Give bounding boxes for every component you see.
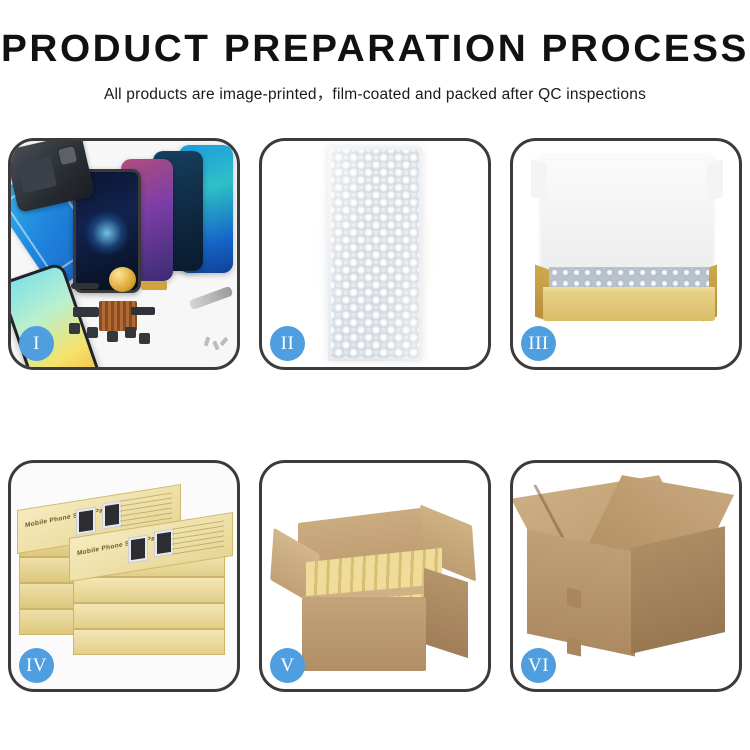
step-panel-2: II (259, 138, 491, 370)
stacked-box-right-2 (73, 603, 225, 629)
flex-cable-1 (71, 283, 99, 289)
box-art-screen-2 (102, 500, 122, 529)
speaker-component (109, 267, 136, 292)
product-preparation-infographic: PRODUCT PREPARATION PROCESS All products… (0, 0, 750, 750)
flex-cable-2 (141, 281, 167, 290)
step-panel-5: V (259, 460, 491, 692)
mailer-front-wall (543, 293, 715, 321)
box-label-text-2: Mobile Phone Spare Parts (77, 533, 165, 557)
box-stack: Mobile Phone Spare Parts Mobile Phone Sp… (17, 491, 237, 681)
sealed-carton-side (631, 526, 725, 654)
repair-tool (189, 286, 234, 310)
carton-side-wall (424, 568, 468, 658)
carton-front-wall (302, 597, 426, 671)
bubble-wrap-sheet (328, 147, 422, 361)
mailer-lid (541, 155, 713, 273)
stacked-box-right-1 (73, 629, 225, 655)
step-panel-3: III (510, 138, 742, 370)
step-badge-2: II (270, 326, 305, 361)
box-label-text-1: Mobile Phone Spare Parts (25, 505, 113, 529)
step-badge-5: V (270, 648, 305, 683)
step-panel-6: VI (510, 460, 742, 692)
box-art-screen-1 (76, 506, 96, 535)
step-badge-1: I (19, 326, 54, 361)
header: PRODUCT PREPARATION PROCESS All products… (0, 0, 750, 104)
page-title: PRODUCT PREPARATION PROCESS (0, 30, 750, 68)
step-badge-4: IV (19, 648, 54, 683)
flex-cable-4 (131, 307, 155, 315)
step-panel-4: Mobile Phone Spare Parts Mobile Phone Sp… (8, 460, 240, 692)
box-art-screen-3 (128, 534, 148, 563)
step-badge-3: III (521, 326, 556, 361)
page-subtitle: All products are image-printed，film-coat… (0, 82, 750, 104)
small-chip-1 (69, 323, 80, 334)
small-chip-2 (87, 327, 98, 338)
box-spec-lines-2 (172, 520, 224, 558)
steps-grid: I II III (8, 138, 742, 692)
sealed-carton-front (527, 530, 635, 657)
screws-group (205, 337, 229, 355)
step-badge-6: VI (521, 648, 556, 683)
step-panel-1: I (8, 138, 240, 370)
small-chip-5 (139, 333, 150, 344)
carton-tape-1 (567, 588, 581, 609)
box-art-screen-4 (154, 528, 174, 557)
stacked-box-right-3 (73, 577, 225, 603)
small-chip-4 (125, 327, 136, 338)
flex-cable-3 (73, 307, 99, 317)
small-chip-3 (107, 331, 118, 342)
plastic-sheen (328, 147, 422, 361)
battery (17, 157, 57, 194)
display-glow (84, 210, 130, 256)
camera-lens (56, 144, 80, 168)
carton-tape-2 (567, 638, 581, 657)
